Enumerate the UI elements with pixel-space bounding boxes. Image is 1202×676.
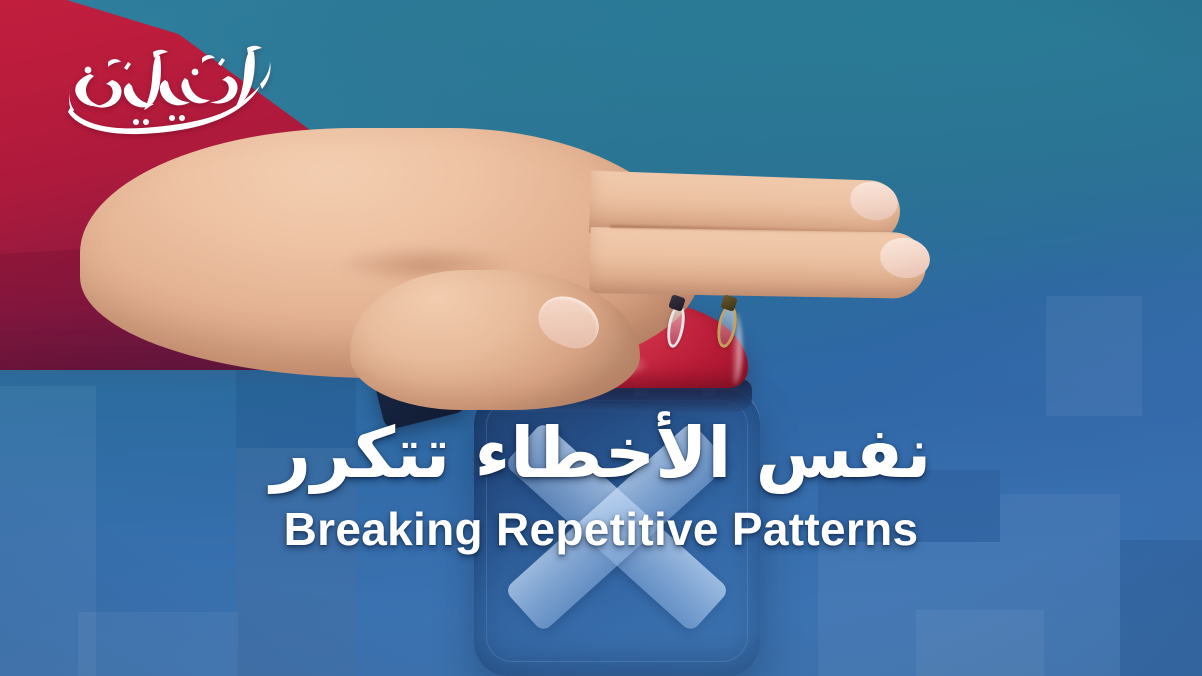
video-thumbnail: نفس الأخطاء تتكرر Breaking Repetitive Pa… [0,0,1202,676]
headline-arabic: نفس الأخطاء تتكرر [0,418,1202,489]
caption-block: نفس الأخطاء تتكرر Breaking Repetitive Pa… [0,418,1202,554]
dunya-ya-dunya-calligraphy-logo[interactable] [64,36,274,140]
finger-lower [589,227,926,299]
hand [50,120,930,410]
headline-english: Breaking Repetitive Patterns [0,505,1202,553]
